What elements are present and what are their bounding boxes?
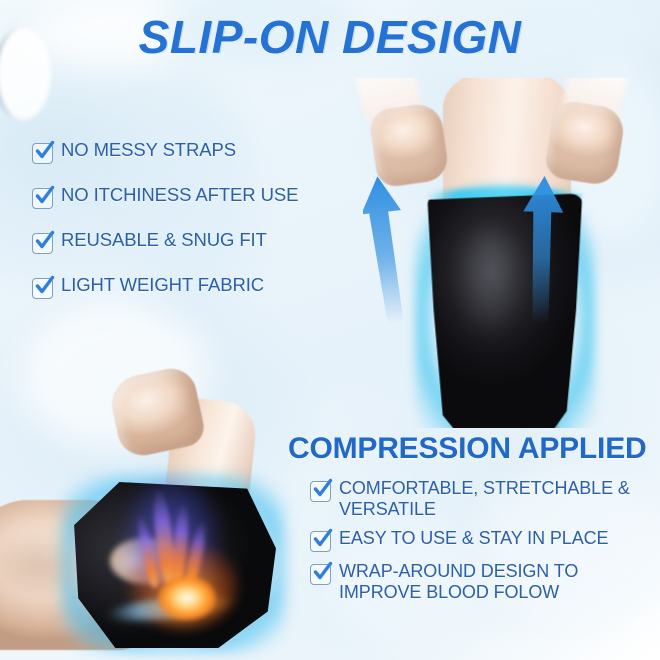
checkbox-checked-icon: [310, 481, 331, 502]
feature-list-top: NO MESSY STRAPS NO ITCHINESS AFTER USE R…: [32, 140, 352, 320]
elbow-sleeve-photo: [0, 360, 322, 660]
feature-list-bottom: COMFORTABLE, STRETCHABLE & VERSATILE EAS…: [310, 478, 660, 612]
product-poster: SLIP-ON DESIGN NO MESSY STRAPS NO ITCHIN…: [0, 0, 660, 660]
checkbox-checked-icon: [310, 531, 331, 552]
list-item-label: REUSABLE & SNUG FIT: [61, 230, 267, 251]
knee-sleeve-photo: [355, 78, 655, 428]
list-item: COMFORTABLE, STRETCHABLE & VERSATILE: [310, 478, 660, 519]
section-title: COMPRESSION APPLIED: [288, 432, 646, 466]
up-arrow-right-icon: [520, 174, 564, 324]
list-item: NO MESSY STRAPS: [32, 140, 352, 164]
page-title: SLIP-ON DESIGN: [0, 10, 660, 64]
list-item-label: NO ITCHINESS AFTER USE: [61, 185, 298, 206]
list-item: REUSABLE & SNUG FIT: [32, 230, 352, 254]
list-item-label: EASY TO USE & STAY IN PLACE: [339, 528, 608, 549]
sleeve-highlight: [455, 228, 525, 338]
list-item: EASY TO USE & STAY IN PLACE: [310, 528, 660, 552]
checkbox-checked-icon: [310, 564, 331, 585]
elbow-crease: [110, 538, 180, 584]
list-item-label: LIGHT WEIGHT FABRIC: [61, 275, 264, 296]
list-item-label: COMFORTABLE, STRETCHABLE & VERSATILE: [339, 478, 660, 519]
list-item: LIGHT WEIGHT FABRIC: [32, 275, 352, 299]
checkbox-checked-icon: [32, 188, 53, 209]
list-item-label: NO MESSY STRAPS: [61, 140, 236, 161]
checkbox-checked-icon: [32, 143, 53, 164]
list-item-label: WRAP-AROUND DESIGN TO IMPROVE BLOOD FOLO…: [339, 561, 660, 602]
list-item: NO ITCHINESS AFTER USE: [32, 185, 352, 209]
list-item: WRAP-AROUND DESIGN TO IMPROVE BLOOD FOLO…: [310, 561, 660, 602]
checkbox-checked-icon: [32, 233, 53, 254]
up-arrow-left-icon: [363, 174, 407, 324]
checkbox-checked-icon: [32, 278, 53, 299]
